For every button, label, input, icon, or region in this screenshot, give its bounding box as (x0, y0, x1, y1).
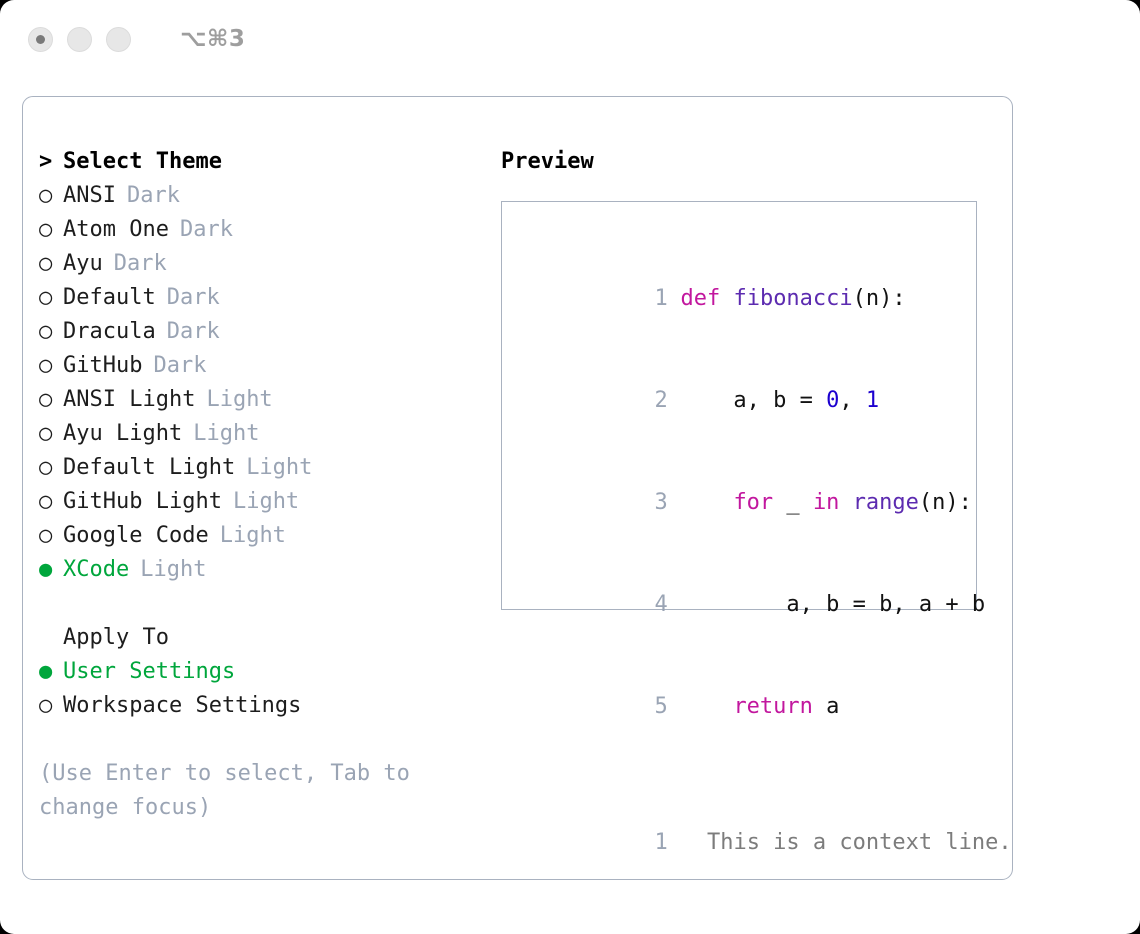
list-spacer (39, 587, 489, 621)
code-token: a (813, 694, 840, 719)
radio-off-icon: ○ (39, 247, 63, 281)
keyboard-shortcut-label: ⌥⌘3 (180, 26, 245, 52)
code-token: 1 (866, 388, 879, 413)
code-line: 4 a, b = b, a + b (502, 554, 976, 656)
radio-off-icon: ○ (39, 383, 63, 417)
code-token: return (733, 694, 812, 719)
record-dot-icon (36, 35, 45, 44)
code-token (680, 490, 733, 515)
window-titlebar: ⌥⌘3 (0, 0, 1140, 78)
theme-variant-tag: Dark (180, 217, 233, 242)
apply-to-label: Apply To (63, 625, 169, 650)
apply-to-option-workspace-settings[interactable]: ○Workspace Settings (39, 689, 489, 723)
radio-off-icon: ○ (39, 485, 63, 519)
theme-variant-tag: Dark (127, 183, 180, 208)
theme-option-google-code[interactable]: ○Google CodeLight (39, 519, 489, 553)
theme-option-ayu[interactable]: ○AyuDark (39, 247, 489, 281)
theme-name: XCode (63, 557, 129, 582)
radio-on-icon: ● (39, 553, 63, 587)
code-line: 1def fibonacci(n): (502, 248, 976, 350)
theme-name: ANSI (63, 183, 116, 208)
radio-off-icon: ○ (39, 519, 63, 553)
theme-name: Ayu (63, 251, 103, 276)
code-token: for (733, 490, 773, 515)
code-token: , (839, 388, 866, 413)
line-number: 2 (654, 384, 680, 418)
diff-line-context: 1 This is a context line. (502, 792, 976, 894)
code-token: (n): (853, 286, 906, 311)
radio-off-icon: ○ (39, 213, 63, 247)
theme-name: ANSI Light (63, 387, 195, 412)
radio-off-icon: ○ (39, 281, 63, 315)
line-number: 1 (654, 282, 680, 316)
code-token (680, 694, 733, 719)
theme-variant-tag: Light (233, 489, 299, 514)
preview-title: Preview (501, 145, 1001, 179)
diff-line-deleted: 2- This line was deleted. (502, 894, 976, 934)
code-token (720, 286, 733, 311)
theme-variant-tag: Dark (153, 353, 206, 378)
diff-prefix (680, 830, 707, 855)
preview-code-box: 1def fibonacci(n): 2 a, b = 0, 1 3 for _… (501, 201, 977, 610)
apply-to-option-label: User Settings (63, 659, 235, 684)
titlebar-button-two-icon[interactable] (67, 27, 92, 52)
main-panel: >Select Theme ○ANSIDark ○Atom OneDark ○A… (22, 96, 1013, 880)
theme-name: Google Code (63, 523, 209, 548)
theme-option-xcode[interactable]: ●XCodeLight (39, 553, 489, 587)
code-line: 2 a, b = 0, 1 (502, 350, 976, 452)
code-token: fibonacci (733, 286, 852, 311)
theme-variant-tag: Dark (167, 285, 220, 310)
select-theme-header: >Select Theme (39, 145, 489, 179)
theme-option-ansi-light[interactable]: ○ANSI LightLight (39, 383, 489, 417)
line-number: 1 (654, 826, 680, 860)
apply-to-option-label: Workspace Settings (63, 693, 301, 718)
theme-name: Default (63, 285, 156, 310)
theme-name: Default Light (63, 455, 235, 480)
theme-variant-tag: Light (220, 523, 286, 548)
code-line: 3 for _ in range(n): (502, 452, 976, 554)
code-line: 5 return a (502, 656, 976, 758)
theme-name: GitHub (63, 353, 142, 378)
code-token: (n): (919, 490, 972, 515)
theme-name: Dracula (63, 319, 156, 344)
theme-variant-tag: Dark (114, 251, 167, 276)
theme-variant-tag: Dark (167, 319, 220, 344)
theme-option-atom-one[interactable]: ○Atom OneDark (39, 213, 489, 247)
keyboard-hint-text: (Use Enter to select, Tab to change focu… (39, 757, 454, 825)
code-token: in (813, 490, 840, 515)
theme-list-column: >Select Theme ○ANSIDark ○Atom OneDark ○A… (39, 145, 489, 825)
record-button-icon[interactable] (28, 27, 53, 52)
theme-name: GitHub Light (63, 489, 222, 514)
line-number: 3 (654, 486, 680, 520)
titlebar-button-three-icon[interactable] (106, 27, 131, 52)
select-theme-label: Select Theme (63, 149, 222, 174)
theme-picker-window: ⌥⌘3 >Select Theme ○ANSIDark ○Atom OneDar… (0, 0, 1140, 934)
theme-variant-tag: Light (140, 557, 206, 582)
theme-option-github-light[interactable]: ○GitHub LightLight (39, 485, 489, 519)
radio-off-icon: ○ (39, 179, 63, 213)
focus-caret-icon: > (39, 145, 63, 179)
theme-variant-tag: Light (193, 421, 259, 446)
apply-to-header: Apply To (39, 621, 489, 655)
radio-off-icon: ○ (39, 315, 63, 349)
apply-to-option-user-settings[interactable]: ●User Settings (39, 655, 489, 689)
theme-name: Ayu Light (63, 421, 182, 446)
diff-text: This is a context line. (707, 830, 1012, 855)
code-token (839, 490, 852, 515)
code-token: a, b = b, a + b (680, 592, 985, 617)
radio-off-icon: ○ (39, 417, 63, 451)
code-token: def (680, 286, 720, 311)
theme-option-default[interactable]: ○DefaultDark (39, 281, 489, 315)
radio-off-icon: ○ (39, 689, 63, 723)
theme-name: Atom One (63, 217, 169, 242)
theme-option-github[interactable]: ○GitHubDark (39, 349, 489, 383)
theme-variant-tag: Light (246, 455, 312, 480)
code-token: a, b = (680, 388, 826, 413)
theme-option-default-light[interactable]: ○Default LightLight (39, 451, 489, 485)
radio-on-icon: ● (39, 655, 63, 689)
theme-option-ansi[interactable]: ○ANSIDark (39, 179, 489, 213)
code-token: 0 (826, 388, 839, 413)
line-number: 2 (654, 928, 680, 934)
preview-column: Preview 1def fibonacci(n): 2 a, b = 0, 1… (501, 145, 1001, 610)
radio-off-icon: ○ (39, 451, 63, 485)
radio-off-icon: ○ (39, 349, 63, 383)
line-number: 4 (654, 588, 680, 622)
theme-variant-tag: Light (206, 387, 272, 412)
theme-option-ayu-light[interactable]: ○Ayu LightLight (39, 417, 489, 451)
code-blank-line (502, 758, 976, 792)
theme-option-dracula[interactable]: ○DraculaDark (39, 315, 489, 349)
code-token: _ (773, 490, 813, 515)
line-number: 5 (654, 690, 680, 724)
code-token: range (853, 490, 919, 515)
